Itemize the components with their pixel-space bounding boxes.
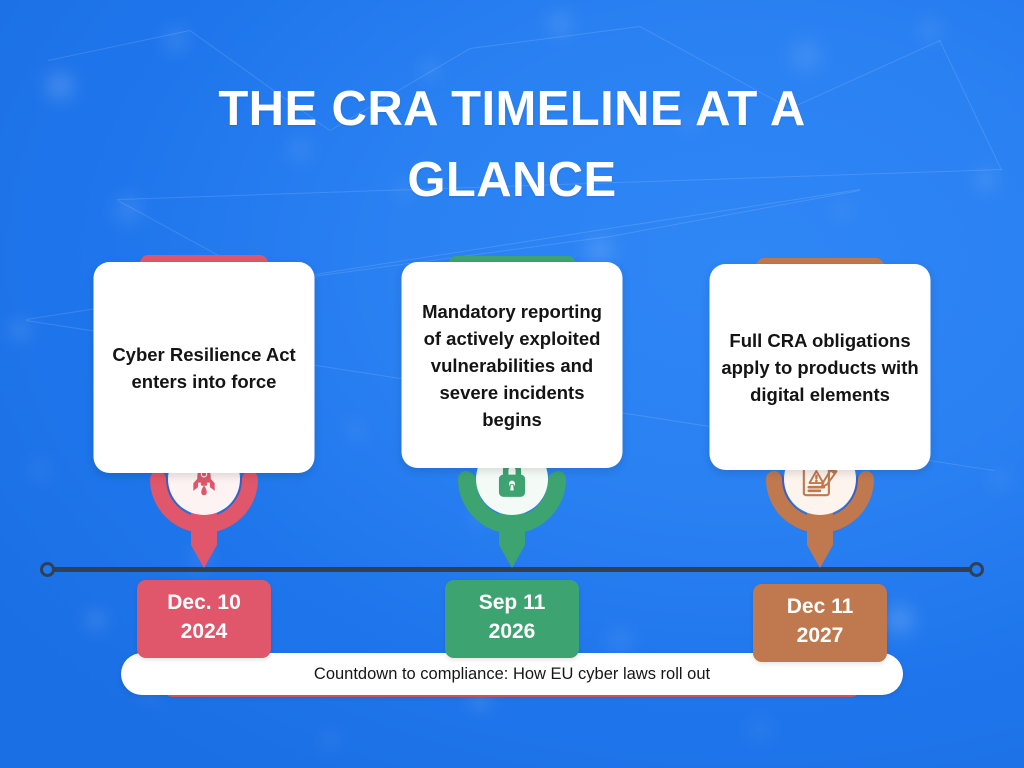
milestone-2-text: Mandatory reporting of actively exploite… — [413, 298, 612, 433]
milestone-1-date-line-1: Dec. 10 — [141, 589, 267, 618]
infographic-canvas: THE CRA TIMELINE AT A GLANCE Cyber Resil… — [0, 0, 1024, 768]
milestone-3-text: Full CRA obligations apply to products w… — [721, 327, 920, 408]
milestone-3-card[interactable]: Full CRA obligations apply to products w… — [710, 264, 931, 470]
milestone-1-text: Cyber Resilience Act enters into force — [105, 341, 304, 395]
milestone-2-card[interactable]: Mandatory reporting of actively exploite… — [402, 262, 623, 468]
milestone-3-date-line-1: Dec 11 — [757, 593, 883, 622]
timeline-end-endpoint-icon — [969, 562, 984, 577]
milestone-1-card[interactable]: Cyber Resilience Act enters into force — [94, 262, 315, 473]
milestone-2-date-chip[interactable]: Sep 11 2026 — [445, 580, 579, 658]
milestone-1-date-chip[interactable]: Dec. 10 2024 — [137, 580, 271, 658]
milestone-2-date-line-1: Sep 11 — [449, 589, 575, 618]
milestone-1-date-line-2: 2024 — [141, 618, 267, 647]
milestone-2-date-line-2: 2026 — [449, 618, 575, 647]
milestone-3-date-chip[interactable]: Dec 11 2027 — [753, 584, 887, 662]
timeline-start-endpoint-icon — [40, 562, 55, 577]
footer-caption: Countdown to compliance: How EU cyber la… — [314, 665, 710, 684]
milestone-3-date-line-2: 2027 — [757, 622, 883, 651]
